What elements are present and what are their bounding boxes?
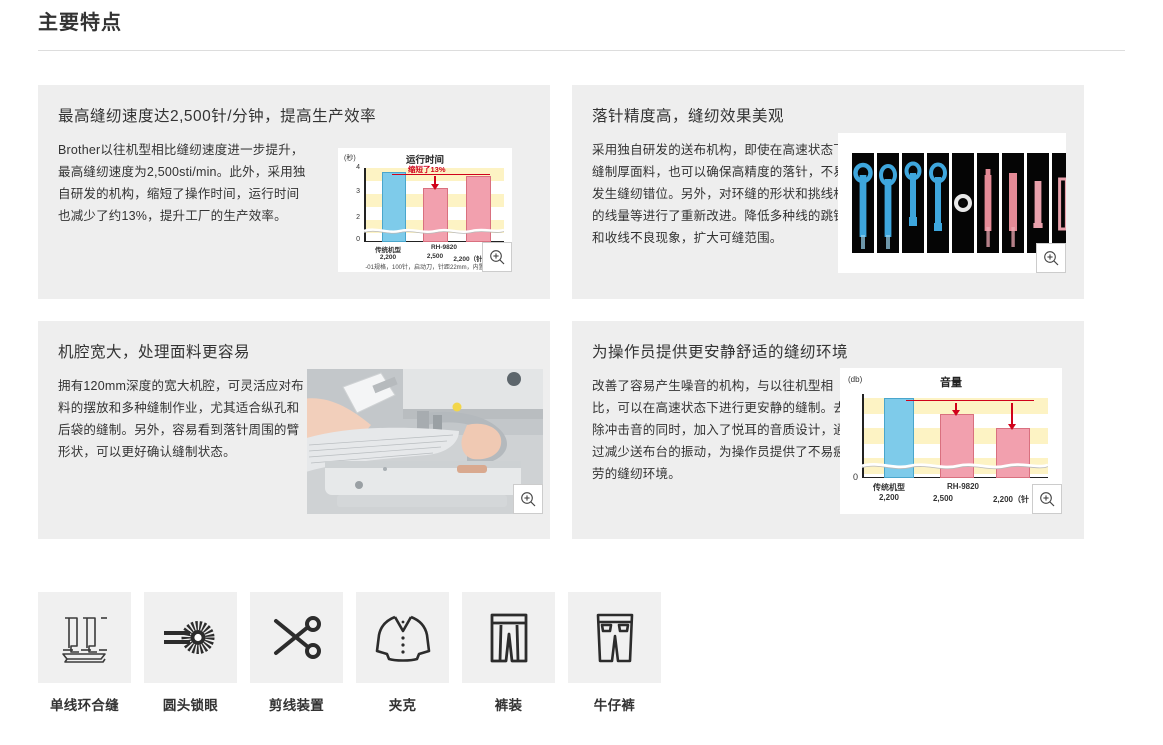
icon-item-trousers[interactable]: 裤装 (462, 592, 555, 714)
chart-y-tick: 3 (348, 188, 360, 195)
buttonhole-sample (977, 153, 999, 253)
chart-x-label-line2: 2,200 (879, 493, 899, 502)
feature-title: 最高缝纫速度达2,500针/分钟，提高生产效率 (58, 107, 530, 127)
icon-item-chainstitch[interactable]: 单线环合缝 (38, 592, 131, 714)
feature-title: 落针精度高，缝纫效果美观 (592, 107, 1064, 127)
icon-label: 单线环合缝 (38, 694, 131, 714)
chart-annotation: 缩短了13% (408, 164, 446, 175)
icon-box (250, 592, 343, 683)
buttonhole-sample (1002, 153, 1024, 253)
feature-card-quiet-environment: 为操作员提供更安静舒适的缝纫环境 改善了容易产生噪音的机构，与以往机型相比，可以… (572, 321, 1084, 539)
feature-body: 采用独自研发的送布机构，即使在高速状态下缝制厚面料，也可以确保高精度的落针，不易… (592, 139, 847, 249)
eyelet-buttonhole-icon (162, 615, 220, 661)
application-icon-row: 单线环合缝 圆头锁眼 (38, 592, 661, 714)
magnifier-plus-icon (1039, 491, 1056, 508)
feature-body: 改善了容易产生噪音的机构，与以往机型相比，可以在高速状态下进行更安静的缝制。去除… (592, 375, 847, 485)
feature-card-grid: 最高缝纫速度达2,500针/分钟，提高生产效率 Brother以往机型相比缝纫速… (38, 85, 1128, 539)
buttonhole-sample (927, 153, 949, 253)
feature-body: Brother以往机型相比缝纫速度进一步提升，最高缝纫速度为2,500sti/m… (58, 139, 308, 227)
magnifier-plus-icon (1043, 250, 1060, 267)
icon-box (38, 592, 131, 683)
chart-plot-area (862, 394, 1048, 478)
trousers-icon (487, 612, 531, 664)
zoom-in-button[interactable] (482, 242, 512, 272)
buttonhole-sample-image[interactable] (838, 133, 1066, 273)
chart-axis-break (364, 227, 504, 234)
zoom-in-button[interactable] (1032, 484, 1062, 514)
icon-label: 圆头锁眼 (144, 694, 237, 714)
icon-item-eyelet-buttonhole[interactable]: 圆头锁眼 (144, 592, 237, 714)
eyelet-stitch-icon (902, 153, 924, 253)
icon-item-jacket[interactable]: 夹克 (356, 592, 449, 714)
icon-label: 夹克 (356, 694, 449, 714)
buttonhole-strip (852, 153, 1066, 253)
icon-label: 牛仔裤 (568, 694, 661, 714)
buttonhole-sample (877, 153, 899, 253)
icon-box (462, 592, 555, 683)
chart-x-label: 传统机型 2,200 (364, 244, 412, 261)
chart-title: 音量 (840, 374, 1062, 390)
single-thread-chainstitch-icon (57, 612, 113, 664)
feature-card-wide-arm: 机腔宽大，处理面料更容易 拥有120mm深度的宽大机腔，可灵活应对布料的摆放和多… (38, 321, 550, 539)
jacket-icon (375, 613, 431, 663)
chart-group-label: RH-9820 (926, 482, 1000, 491)
feature-card-needle-accuracy: 落针精度高，缝纫效果美观 采用独自研发的送布机构，即使在高速状态下缝制厚面料，也… (572, 85, 1084, 299)
jeans-icon (592, 612, 638, 664)
feature-body: 拥有120mm深度的宽大机腔，可灵活应对布料的摆放和多种缝制作业，尤其适合纵孔和… (58, 375, 308, 463)
page-title: 主要特点 (38, 10, 1125, 50)
chart-group-label: RH-9820 (416, 244, 472, 251)
buttonhole-sample (902, 153, 924, 253)
chart-x-label-line1: 传统机型 (375, 247, 401, 254)
feature-title: 为操作员提供更安静舒适的缝纫环境 (592, 343, 1064, 363)
icon-label: 剪线装置 (250, 694, 343, 714)
zoom-in-button[interactable] (1036, 243, 1066, 273)
thread-trimmer-scissors-icon (270, 613, 324, 663)
chart-axis-break (862, 461, 1048, 470)
eyelet-stitch-icon (852, 153, 874, 253)
buttonhole-sample (1052, 153, 1066, 253)
feature-card-speed: 最高缝纫速度达2,500针/分钟，提高生产效率 Brother以往机型相比缝纫速… (38, 85, 550, 299)
icon-item-thread-trimmer[interactable]: 剪线装置 (250, 592, 343, 714)
magnifier-plus-icon (520, 491, 537, 508)
chart-bar (996, 428, 1030, 478)
eyelet-stitch-icon (927, 153, 949, 253)
page-header: 主要特点 (38, 10, 1125, 51)
icon-item-jeans[interactable]: 牛仔裤 (568, 592, 661, 714)
chart-y-tick: 4 (348, 164, 360, 171)
buttonhole-sample (1027, 153, 1049, 253)
chart-y-tick: 0 (348, 236, 360, 243)
icon-box (144, 592, 237, 683)
magnifier-plus-icon (489, 249, 506, 266)
zoom-in-button[interactable] (513, 484, 543, 514)
chart-x-label-line2: 2,200 (380, 254, 396, 261)
eyelet-ring-icon (952, 153, 974, 253)
straight-buttonhole-icon (1052, 153, 1066, 253)
straight-buttonhole-icon (1002, 153, 1024, 253)
chart-plot-area: 缩短了13% (364, 168, 504, 242)
sewing-machine-illustration (307, 369, 543, 514)
icon-box (356, 592, 449, 683)
chart-y-tick: 0 (846, 472, 858, 482)
straight-buttonhole-icon (1027, 153, 1049, 253)
machine-photo-image[interactable] (307, 369, 543, 514)
runtime-chart-image[interactable]: (秒) 运行时间 (338, 148, 512, 272)
buttonhole-sample (952, 153, 974, 253)
eyelet-stitch-icon (877, 153, 899, 253)
chart-x-label-line1: 传统机型 (873, 483, 905, 492)
straight-buttonhole-icon (977, 153, 999, 253)
sewing-machine-photo (307, 369, 543, 514)
volume-chart: (db) 音量 (840, 368, 1062, 514)
buttonhole-sample (852, 153, 874, 253)
chart-x-label: 2,500 (916, 494, 970, 503)
volume-chart-image[interactable]: (db) 音量 (840, 368, 1062, 514)
title-divider (38, 50, 1125, 51)
feature-title: 机腔宽大，处理面料更容易 (58, 343, 530, 363)
chart-reference-line (906, 400, 1034, 401)
chart-y-tick: 2 (348, 214, 360, 221)
chart-x-label: 传统机型 2,200 (858, 482, 920, 502)
icon-box (568, 592, 661, 683)
icon-label: 裤装 (462, 694, 555, 714)
